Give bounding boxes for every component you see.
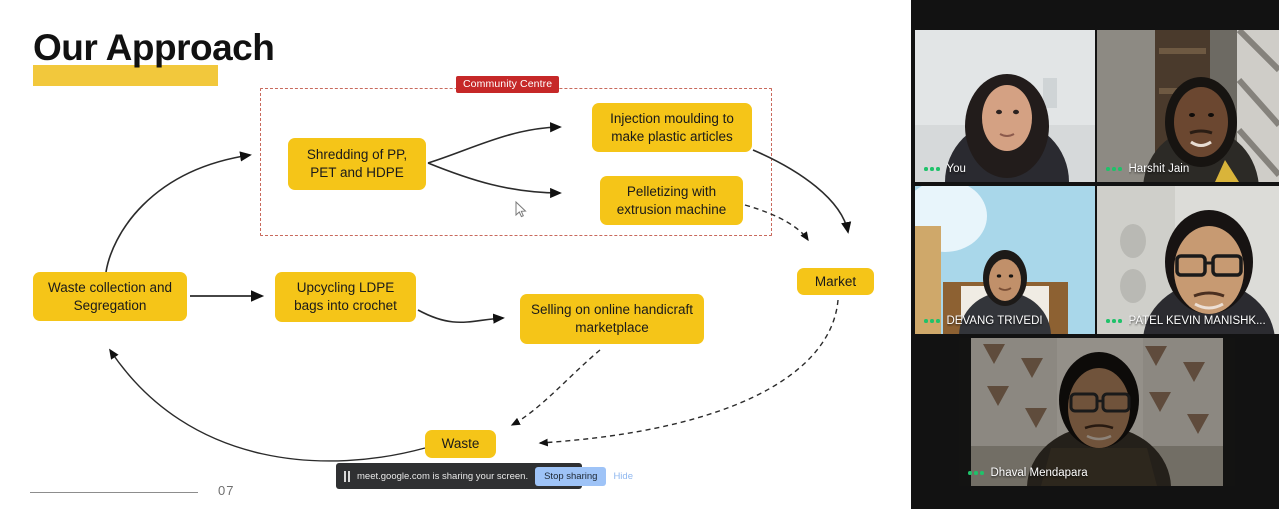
- stop-sharing-button[interactable]: Stop sharing: [535, 467, 606, 486]
- participant-name-strip: You: [915, 158, 1095, 182]
- share-message: meet.google.com is sharing your screen.: [357, 471, 528, 482]
- node-label: Waste: [442, 435, 480, 453]
- community-centre-label: Community Centre: [456, 76, 559, 93]
- participant-name: PATEL KEVIN MANISHK...: [1129, 315, 1266, 327]
- participant-tile[interactable]: DEVANG TRIVEDI: [915, 186, 1095, 334]
- mic-activity-icon: [1106, 167, 1122, 171]
- participant-tile[interactable]: PATEL KEVIN MANISHK...: [1097, 186, 1279, 334]
- node-shredding[interactable]: Shredding of PP, PET and HDPE: [288, 138, 426, 190]
- participant-name: Dhaval Mendapara: [991, 467, 1088, 479]
- mic-activity-icon: [1106, 319, 1122, 323]
- node-pelletizing[interactable]: Pelletizing with extrusion machine: [600, 176, 743, 225]
- node-label: Waste collection and Segregation: [42, 279, 178, 315]
- node-label: Shredding of PP, PET and HDPE: [297, 146, 417, 182]
- node-market[interactable]: Market: [797, 268, 874, 295]
- slide-title-group: Our Approach: [33, 29, 274, 66]
- mic-activity-icon: [924, 167, 940, 171]
- node-label: Pelletizing with extrusion machine: [609, 183, 734, 219]
- hide-bar-link[interactable]: Hide: [613, 471, 633, 482]
- node-label: Upcycling LDPE bags into crochet: [284, 279, 407, 315]
- screen-share-notification-bar: meet.google.com is sharing your screen. …: [336, 463, 582, 489]
- participant-tile[interactable]: You: [915, 30, 1095, 182]
- node-waste-collection[interactable]: Waste collection and Segregation: [33, 272, 187, 321]
- mouse-cursor: [515, 201, 527, 218]
- footer-divider: [30, 492, 198, 493]
- title-highlight-bar: [33, 65, 218, 86]
- node-label: Injection moulding to make plastic artic…: [601, 110, 743, 146]
- participant-tile[interactable]: Dhaval Mendapara: [959, 338, 1235, 486]
- page-title: Our Approach: [33, 29, 274, 66]
- node-waste[interactable]: Waste: [425, 430, 496, 458]
- mic-activity-icon: [968, 471, 984, 475]
- node-selling-online[interactable]: Selling on online handicraft marketplace: [520, 294, 704, 344]
- node-upcycling[interactable]: Upcycling LDPE bags into crochet: [275, 272, 416, 322]
- presentation-slide: Our Approach Community Centre: [0, 0, 911, 509]
- slide-page-number: 07: [218, 483, 234, 498]
- participant-name-strip: Harshit Jain: [1097, 158, 1279, 182]
- node-label: Selling on online handicraft marketplace: [529, 301, 695, 337]
- participant-name: DEVANG TRIVEDI: [947, 315, 1043, 327]
- participant-name-strip: PATEL KEVIN MANISHK...: [1097, 310, 1279, 334]
- participant-name-strip: DEVANG TRIVEDI: [915, 310, 1095, 334]
- node-label: Market: [815, 273, 856, 291]
- participant-tile[interactable]: Harshit Jain: [1097, 30, 1279, 182]
- node-injection-moulding[interactable]: Injection moulding to make plastic artic…: [592, 103, 752, 152]
- participants-panel: You: [911, 0, 1279, 509]
- participant-name: Harshit Jain: [1129, 163, 1190, 175]
- mic-activity-icon: [924, 319, 940, 323]
- pause-icon: [344, 471, 350, 482]
- participant-name: You: [947, 163, 966, 175]
- participant-name-strip: Dhaval Mendapara: [959, 462, 1235, 486]
- meeting-screen-share-view: Our Approach Community Centre: [0, 0, 1279, 509]
